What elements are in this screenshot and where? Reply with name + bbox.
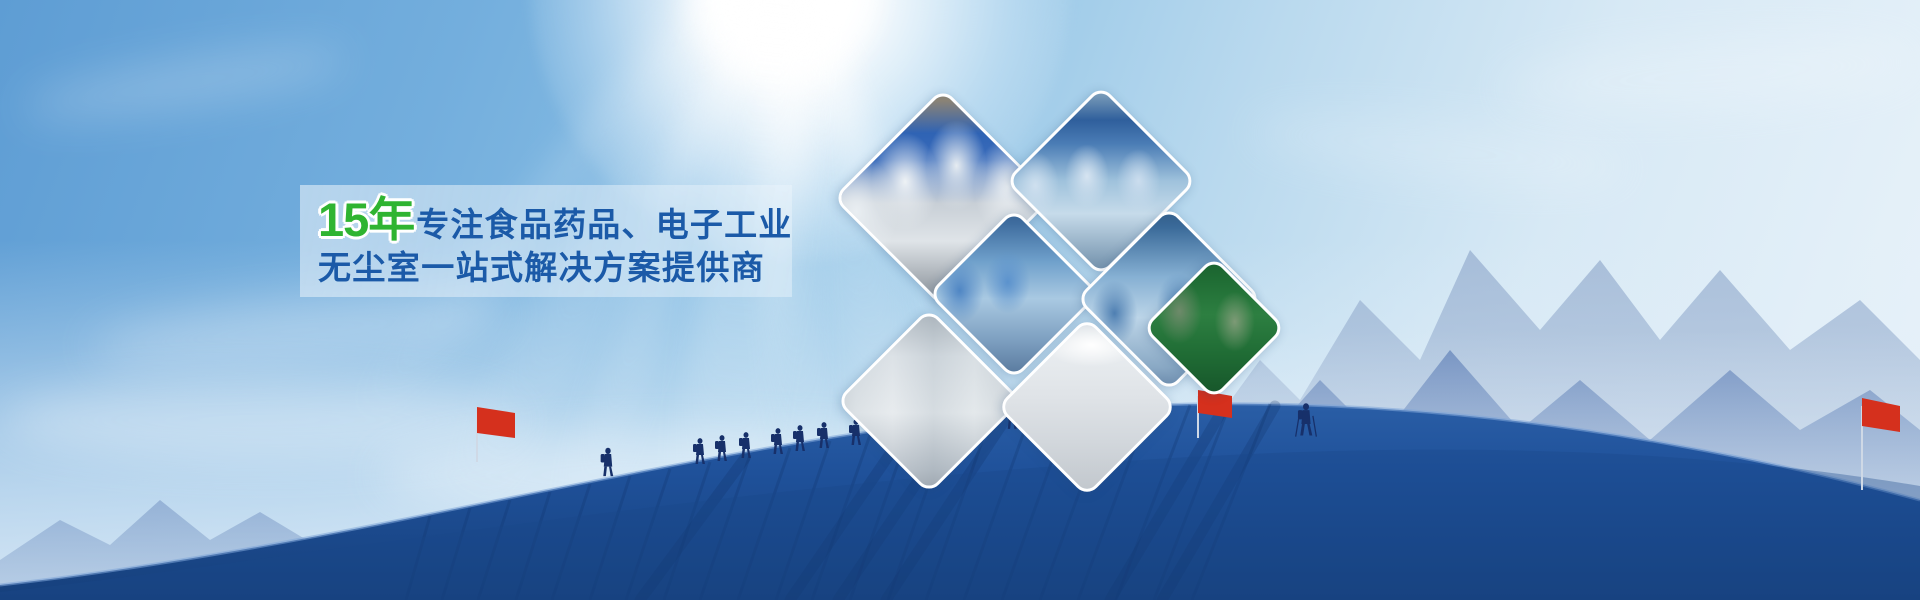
red-flag-icon [1862, 398, 1900, 490]
hiker-silhouette [715, 435, 727, 461]
photo-collage [845, 85, 1285, 485]
hiker-silhouette [793, 425, 805, 451]
hiker-silhouette [601, 448, 614, 476]
years-badge: 15年 [318, 195, 414, 245]
hiker-silhouette [693, 438, 705, 464]
headline-line-2: 无尘室一站式解决方案提供商 [318, 250, 792, 286]
hiker-silhouette [1296, 403, 1317, 436]
hiker-silhouette [771, 428, 783, 454]
headline-line-1-rest: 专注食品药品、电子工业 [416, 208, 792, 243]
red-flag-icon [477, 407, 515, 462]
hiker-silhouette [739, 432, 751, 458]
headline-line-1: 15年 专注食品药品、电子工业 [318, 195, 792, 245]
headline-text: 15年 专注食品药品、电子工业 无尘室一站式解决方案提供商 [300, 185, 792, 297]
hiker-silhouette [817, 422, 829, 448]
hero-banner: 15年 专注食品药品、电子工业 无尘室一站式解决方案提供商 [0, 0, 1920, 600]
